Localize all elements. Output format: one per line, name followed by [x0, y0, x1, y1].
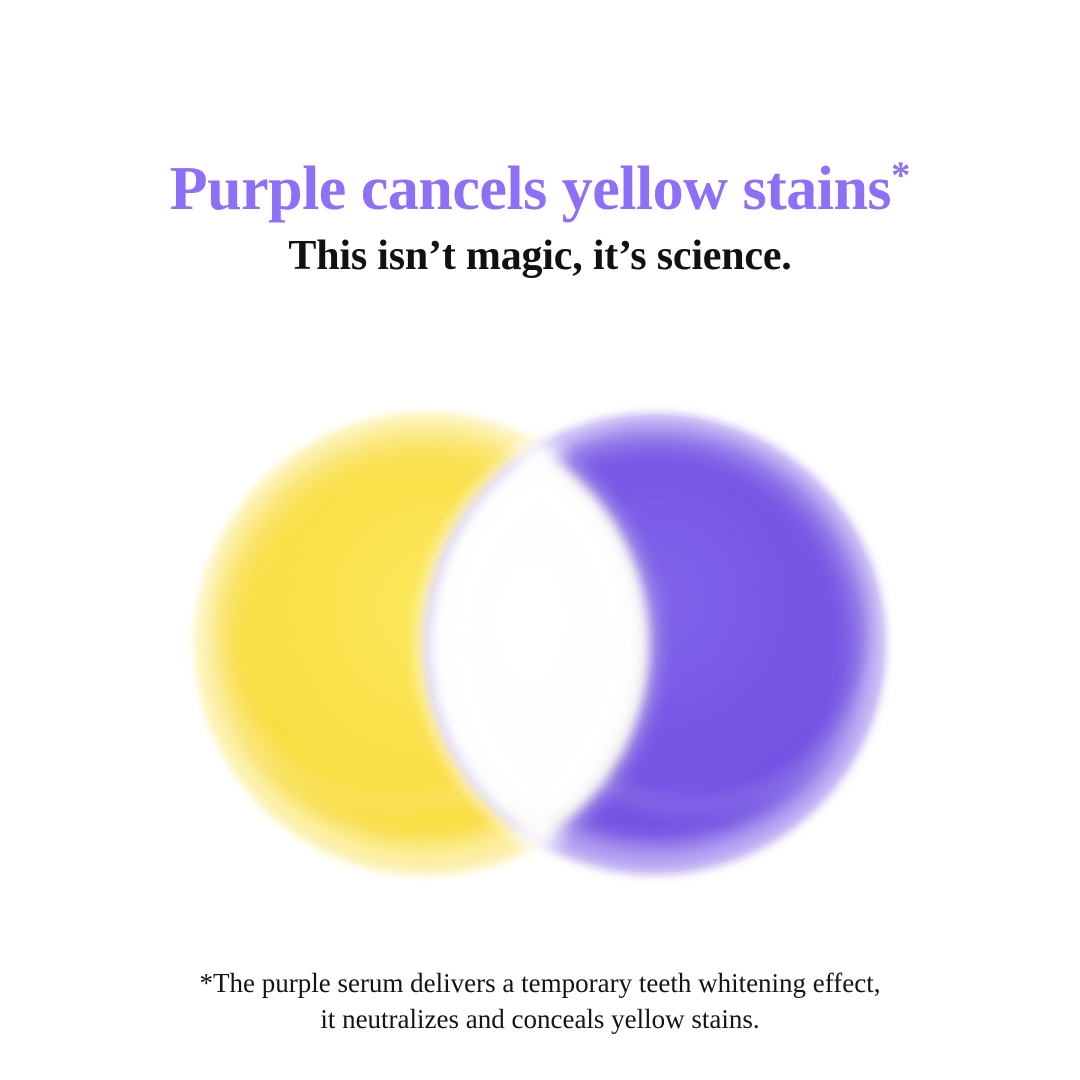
yellow-circle [197, 415, 655, 873]
overlap-lens-shade-right [540, 450, 649, 840]
purple-circle [426, 415, 884, 873]
headline-asterisk: * [891, 154, 910, 196]
purple-circle-highlight [436, 394, 886, 856]
overlap-lens-group [431, 450, 649, 840]
page-title: Purple cancels yellow stains* [0, 158, 1080, 220]
poster-canvas: Purple cancels yellow stains* This isn’t… [0, 0, 1080, 1080]
purple-circle-group [422, 394, 888, 877]
footnote-line-1: *The purple serum delivers a temporary t… [0, 966, 1080, 1002]
overlap-lens-core [448, 470, 633, 820]
headline-text: Purple cancels yellow stains [170, 155, 891, 223]
overlap-lens-shade-left [431, 450, 540, 840]
overlap-lens-halo [435, 455, 646, 835]
footnote-line-2: it neutralizes and conceals yellow stain… [0, 1002, 1080, 1038]
page-subtitle: This isn’t magic, it’s science. [0, 234, 1080, 278]
footnote: *The purple serum delivers a temporary t… [0, 966, 1080, 1037]
header-text-block: Purple cancels yellow stains* This isn’t… [0, 158, 1080, 278]
yellow-circle-group [193, 396, 659, 877]
lens-vertex-softening [520, 442, 560, 849]
purple-circle-rim-glow [422, 411, 888, 877]
yellow-circle-rim-glow [193, 411, 659, 877]
yellow-circle-highlight [196, 396, 644, 854]
overlap-lens [431, 450, 649, 840]
